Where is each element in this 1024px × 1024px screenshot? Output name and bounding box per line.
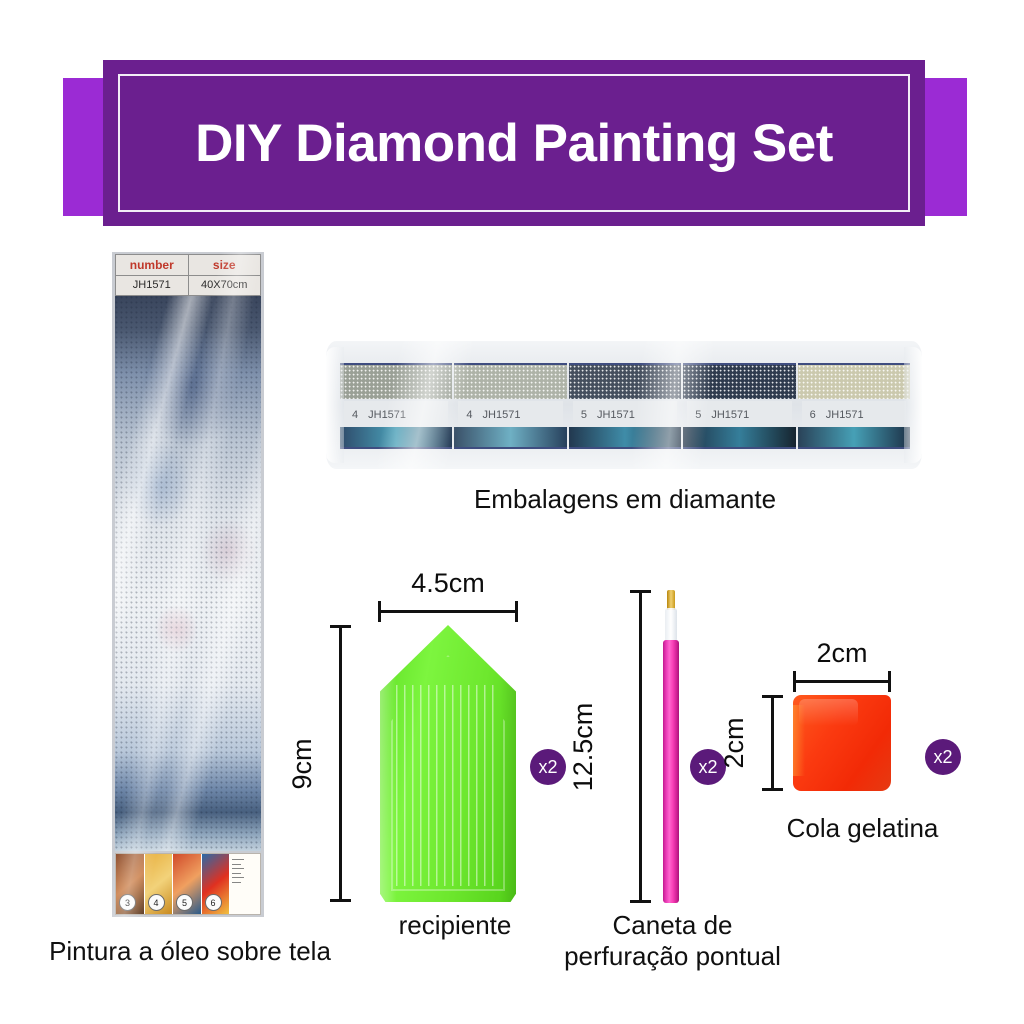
spec-header-row: number size [116, 255, 260, 276]
packet-beads [683, 365, 795, 399]
tray-width-label: 4.5cm [378, 568, 518, 599]
packet-number: 4 [466, 409, 472, 421]
thumbnail-number: 6 [205, 894, 222, 911]
pen-height-dimension: 12.5cm [630, 590, 650, 903]
dimension-cap-left [793, 671, 796, 692]
packet-code: JH1571 [826, 409, 864, 421]
thumbnail-swatch: 4 [145, 854, 174, 914]
packet-beads [454, 365, 566, 399]
diamond-packet: 4 JH1571 [454, 363, 566, 449]
dimension-bar [793, 680, 891, 683]
diamond-packet: 5 JH1571 [683, 363, 795, 449]
pen-metal-tip [667, 590, 675, 610]
packet-beads [340, 365, 452, 399]
dimension-cap-right [888, 671, 891, 692]
glue-width-label: 2cm [793, 638, 891, 669]
pen-height-label: 12.5cm [568, 702, 599, 791]
glue-width-dimension: 2cm [793, 671, 891, 691]
tray-quantity-badge: x2 [530, 749, 566, 785]
spec-header-size: size [189, 255, 261, 275]
canvas-caption: Pintura a óleo sobre tela [25, 936, 355, 967]
diamond-packets-bag: 4 JH1571 4 JH1571 5 JH1571 [326, 341, 922, 469]
drill-pen-product [663, 590, 679, 903]
bag-seal-right [904, 347, 922, 463]
pen-clear-collar [665, 608, 677, 642]
packet-code: JH1571 [597, 409, 635, 421]
packet-number: 5 [695, 409, 701, 421]
dimension-bar [771, 695, 774, 791]
thumbnail-swatch: 3 [116, 854, 145, 914]
thumbnail-swatch: 5 [173, 854, 202, 914]
bag-seal-left [326, 347, 344, 463]
canvas-roll-product: number size JH1571 40X70cm 3 4 5 6 ▬▬▬▬▬… [112, 252, 264, 917]
dimension-cap-top [330, 625, 351, 628]
pen-shaft [663, 640, 679, 903]
diamond-packet: 6 JH1571 [798, 363, 910, 449]
dimension-cap-bottom [330, 899, 351, 902]
banner-inner-border: DIY Diamond Painting Set [118, 74, 910, 212]
glue-caption: Cola gelatina [740, 813, 985, 844]
packet-code: JH1571 [483, 409, 521, 421]
packet-number: 5 [581, 409, 587, 421]
packet-bottom-beads [340, 427, 452, 447]
spec-value-number: JH1571 [116, 276, 189, 296]
packet-bottom-beads [683, 427, 795, 447]
diamond-bag-caption: Embalagens em diamante [420, 484, 830, 515]
spec-value-size: 40X70cm [189, 276, 261, 296]
packet-code: JH1571 [368, 409, 406, 421]
glue-height-label: 2cm [719, 717, 750, 768]
green-tray-product [380, 625, 516, 902]
glue-quantity-badge: x2 [925, 739, 961, 775]
dimension-cap-left [378, 601, 381, 622]
packet-beads [569, 365, 681, 399]
thumbnail-number: 3 [119, 894, 136, 911]
dimension-cap-top [762, 695, 783, 698]
packet-label: 4 JH1571 [458, 401, 562, 429]
packet-label: 6 JH1571 [802, 401, 906, 429]
glue-highlight [799, 699, 858, 726]
glue-edge-fold [793, 705, 805, 776]
tray-caption: recipiente [340, 910, 570, 941]
dimension-bar [378, 610, 518, 613]
dimension-cap-bottom [762, 788, 783, 791]
spec-header-number: number [116, 255, 189, 275]
dimension-cap-top [630, 590, 651, 593]
tray-width-dimension: 4.5cm [378, 601, 518, 621]
dimension-cap-right [515, 601, 518, 622]
packet-strip: 4 JH1571 4 JH1571 5 JH1571 [340, 363, 910, 449]
tray-height-label: 9cm [287, 738, 318, 789]
canvas-plastic-sheen [115, 296, 261, 851]
canvas-color-reference-strip: 3 4 5 6 ▬▬▬▬▬▬▬▬▬▬▬▬▬▬▬▬▬▬▬▬▬ [115, 853, 261, 915]
dimension-cap-bottom [630, 900, 651, 903]
diamond-packet: 4 JH1571 [340, 363, 452, 449]
canvas-plastic-wrap: number size JH1571 40X70cm 3 4 5 6 ▬▬▬▬▬… [112, 252, 264, 917]
canvas-printed-artwork [115, 296, 261, 851]
packet-label: 5 JH1571 [687, 401, 791, 429]
spec-value-row: JH1571 40X70cm [116, 276, 260, 296]
pen-caption: Caneta de perfuração pontual [540, 910, 805, 971]
packet-bottom-beads [454, 427, 566, 447]
diamond-packet: 5 JH1571 [569, 363, 681, 449]
dimension-bar [339, 625, 342, 902]
packet-beads [798, 365, 910, 399]
canvas-instruction-text-block: ▬▬▬▬▬▬▬▬▬▬▬▬▬▬▬▬▬▬▬▬▬ [230, 854, 260, 914]
thumbnail-number: 4 [148, 894, 165, 911]
packet-bottom-beads [798, 427, 910, 447]
page-title: DIY Diamond Painting Set [195, 113, 833, 174]
packet-number: 4 [352, 409, 358, 421]
glue-clay-product [793, 695, 891, 791]
tray-height-dimension: 9cm [330, 625, 350, 902]
packet-label: 4 JH1571 [344, 401, 448, 429]
packet-code: JH1571 [711, 409, 749, 421]
thumbnail-swatch: 6 [202, 854, 231, 914]
packet-bottom-beads [569, 427, 681, 447]
thumbnail-number: 5 [176, 894, 193, 911]
header-banner: DIY Diamond Painting Set [0, 0, 1024, 240]
dimension-bar [639, 590, 642, 903]
bag-plastic-body: 4 JH1571 4 JH1571 5 JH1571 [326, 341, 922, 469]
packet-label: 5 JH1571 [573, 401, 677, 429]
packet-number: 6 [810, 409, 816, 421]
glue-height-dimension: 2cm [762, 695, 782, 791]
canvas-spec-label: number size JH1571 40X70cm [115, 254, 261, 296]
